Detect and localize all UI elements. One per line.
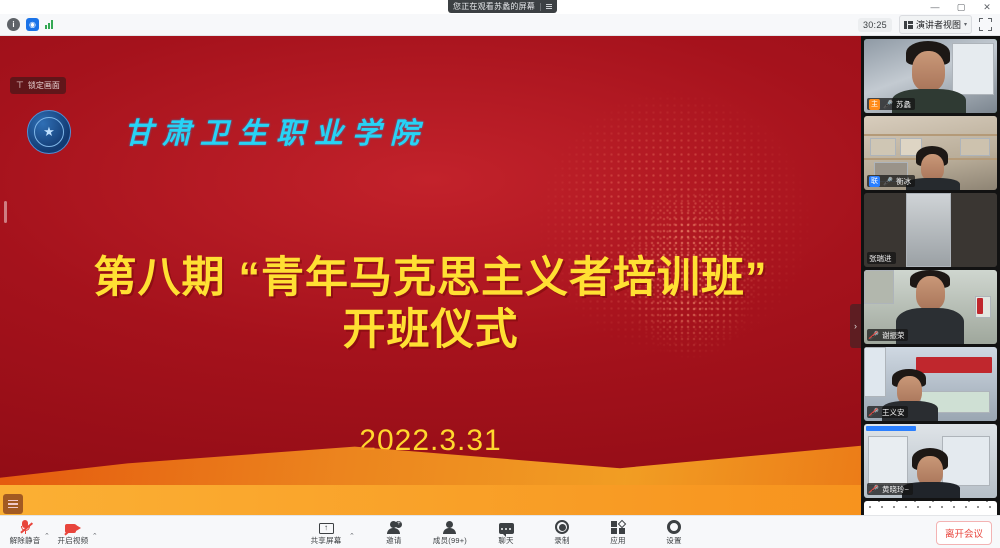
share-options-chevron[interactable]: ⌃ (349, 532, 355, 540)
gear-icon (667, 519, 681, 534)
record-button[interactable]: 录制 (545, 519, 579, 546)
screen-share-tooltip[interactable]: 您正在观看苏蠡的屏幕 (448, 0, 557, 13)
participant-name: 谢振荣 (882, 330, 905, 341)
participant-tile[interactable]: 主 🎤 苏蠡 (864, 39, 997, 113)
menu-icon (8, 500, 18, 509)
shield-icon[interactable]: ◉ (26, 18, 39, 31)
tooltip-menu-icon[interactable] (546, 4, 553, 9)
participant-name: 黄晓玲~ (882, 484, 909, 495)
speaker-view-icon (904, 21, 913, 29)
share-screen-button[interactable]: 共享屏幕 (309, 519, 343, 546)
participant-tile[interactable]: 🎤 王义安 (864, 347, 997, 421)
participant-name: 张瑞进 (869, 253, 892, 264)
school-logo: ★ (27, 110, 71, 154)
window-controls: — ▢ ✕ (922, 0, 1000, 14)
host-badge-icon: 主 (869, 99, 880, 110)
share-screen-label: 共享屏幕 (311, 535, 342, 546)
meeting-control-bar: 解除静音 ⌃ 开启视频 ⌃ 共享屏幕 ⌃ + 邀请 (0, 515, 1000, 548)
invite-label: 邀请 (386, 535, 401, 546)
record-label: 录制 (554, 535, 569, 546)
mic-muted-icon: 🎤 (869, 331, 879, 340)
participant-tile[interactable]: 🎤 谢振荣 (864, 270, 997, 344)
minimize-button[interactable]: — (922, 0, 948, 14)
settings-label: 设置 (666, 535, 681, 546)
fullscreen-icon[interactable] (979, 18, 992, 31)
slide-title: 第八期 “青年马克思主义者培训班” 开班仪式 (0, 252, 861, 357)
mic-icon: 🎤 (883, 177, 893, 186)
invite-icon: + (386, 519, 401, 534)
video-feed (864, 501, 997, 515)
slide-title-line1: 第八期 “青年马克思主义者培训班” (0, 252, 861, 304)
participant-nametag: 🎤 黄晓玲~ (867, 483, 913, 495)
info-icon[interactable]: i (7, 18, 20, 31)
participant-nametag: 🎤 王义安 (867, 406, 908, 418)
decorative-wave-3 (0, 485, 861, 515)
leave-group: 离开会议 (936, 516, 992, 548)
mic-muted-icon: 🎤 (869, 408, 879, 417)
slide-title-line2: 开班仪式 (0, 304, 861, 356)
participants-label: 成员(99+) (433, 535, 467, 546)
shared-screen-stage[interactable]: ★ 甘肃卫生职业学院 第八期 “青年马克思主义者培训班” 开班仪式 2022.3… (0, 36, 861, 515)
share-screen-icon (319, 519, 334, 534)
participant-name: 王义安 (882, 407, 905, 418)
participant-tile[interactable]: 🎤 黄晓玲~ (864, 424, 997, 498)
participants-button[interactable]: 成员(99+) (433, 519, 467, 546)
participant-tile[interactable]: 联 🎤 衡冰 (864, 116, 997, 190)
chat-icon (499, 519, 514, 534)
decorative-pattern (864, 501, 997, 515)
school-logo-emblem: ★ (34, 117, 64, 147)
participant-tile[interactable]: 张瑞进 (864, 193, 997, 267)
mic-icon: 🎤 (883, 100, 893, 109)
chevron-down-icon: ▾ (964, 21, 967, 28)
meeting-timer: 30:25 (858, 18, 892, 32)
left-scroll-handle[interactable] (4, 201, 7, 223)
school-name-text: 甘肃卫生职业学院 (124, 110, 428, 152)
toolbar-right-group: 30:25 演讲者视图 ▾ (858, 15, 1000, 34)
lock-screen-button[interactable]: ⊤ 锁定画面 (10, 77, 66, 94)
screen-share-tooltip-label: 您正在观看苏蠡的屏幕 (453, 0, 535, 13)
participant-nametag: 🎤 谢振荣 (867, 329, 908, 341)
participant-nametag: 主 🎤 苏蠡 (867, 98, 915, 110)
signal-icon[interactable] (45, 20, 53, 29)
apps-label: 应用 (610, 535, 625, 546)
meeting-toolbar: i ◉ 30:25 演讲者视图 ▾ (0, 14, 1000, 36)
close-button[interactable]: ✕ (974, 0, 1000, 14)
participant-name: 苏蠡 (896, 99, 911, 110)
lock-screen-label: 锁定画面 (28, 80, 60, 91)
apps-button[interactable]: 应用 (601, 519, 635, 546)
maximize-button[interactable]: ▢ (948, 0, 974, 14)
mic-muted-icon: 🎤 (869, 485, 879, 494)
view-mode-label: 演讲者视图 (916, 18, 961, 31)
chat-button[interactable]: 聊天 (489, 519, 523, 546)
participant-nametag: 联 🎤 衡冰 (867, 175, 915, 187)
toolbar-left-group: i ◉ (0, 18, 53, 31)
pin-icon: ⊤ (16, 80, 24, 91)
presentation-slide: ★ 甘肃卫生职业学院 第八期 “青年马克思主义者培训班” 开班仪式 2022.3… (0, 36, 861, 515)
title-bar: 您正在观看苏蠡的屏幕 — ▢ ✕ (0, 0, 1000, 14)
main-controls-group: 共享屏幕 ⌃ + 邀请 成员(99+) 聊天 (0, 516, 1000, 548)
settings-button[interactable]: 设置 (657, 519, 691, 546)
participant-nametag: 张瑞进 (867, 252, 896, 264)
apps-icon (611, 519, 625, 534)
cohost-badge-icon: 联 (869, 176, 880, 187)
view-mode-selector[interactable]: 演讲者视图 ▾ (899, 15, 972, 34)
meeting-window: 您正在观看苏蠡的屏幕 — ▢ ✕ i ◉ 30:25 演讲者视图 ▾ (0, 0, 1000, 548)
leave-meeting-button[interactable]: 离开会议 (936, 521, 992, 545)
participant-name: 衡冰 (896, 176, 911, 187)
participant-tile[interactable] (864, 501, 997, 515)
collapse-filmstrip-handle[interactable]: › (850, 304, 861, 348)
record-icon (555, 519, 569, 534)
ppt-menu-button[interactable] (3, 494, 23, 514)
divider (540, 3, 541, 11)
participants-icon (442, 519, 457, 534)
invite-button[interactable]: + 邀请 (377, 519, 411, 546)
participant-filmstrip[interactable]: 主 🎤 苏蠡 联 🎤 衡冰 (861, 36, 1000, 515)
